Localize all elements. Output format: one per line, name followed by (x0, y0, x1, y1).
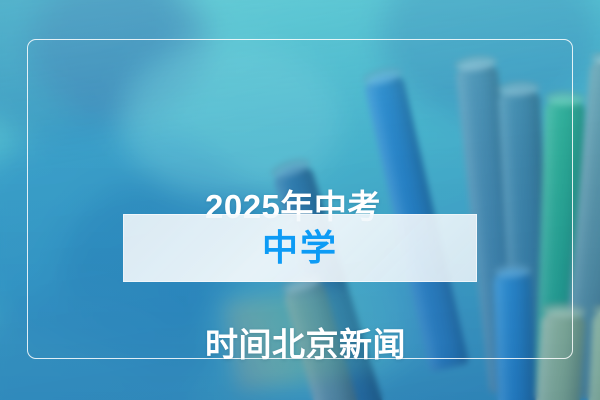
promo-banner: 2025年中考 时间北京新闻 中学 (0, 0, 600, 400)
subtitle-panel: 中学 (123, 214, 477, 282)
subtitle-label: 中学 (262, 230, 338, 266)
headline-line-2: 时间北京新闻 (205, 322, 406, 368)
